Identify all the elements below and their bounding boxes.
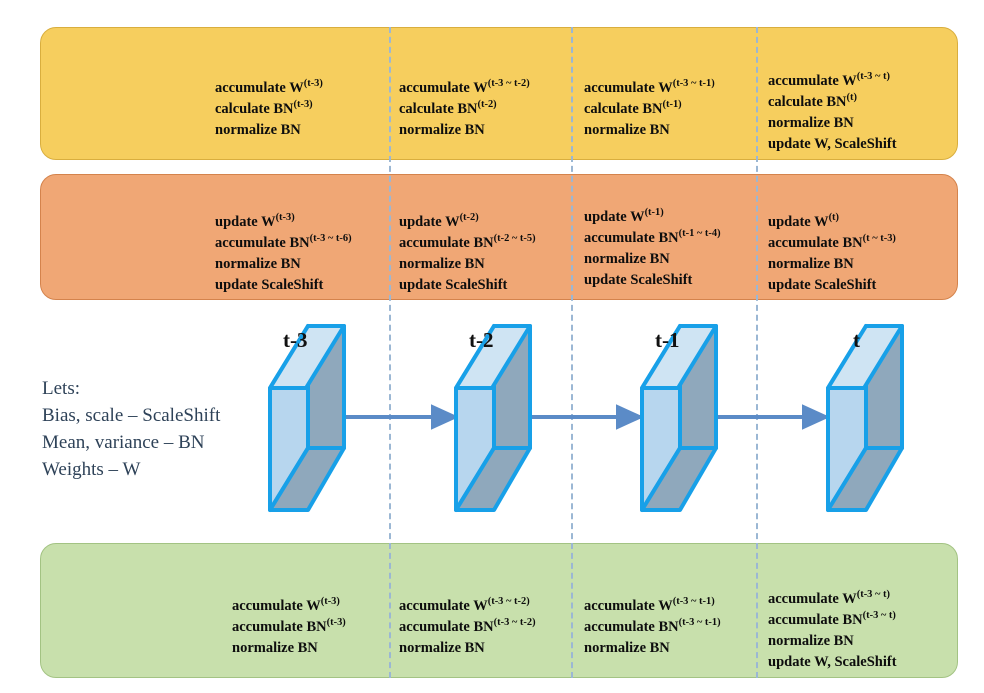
cbn-column-2: update W(t-2)accumulate BN(t-2 ~ t-5)nor… bbox=[399, 212, 536, 296]
step-line: normalize BN bbox=[399, 120, 530, 141]
bn-column-3: accumulate W(t-3 ~ t-1)calculate BN(t-1)… bbox=[584, 78, 715, 141]
step-line: update ScaleShift bbox=[215, 275, 352, 296]
step-line: update ScaleShift bbox=[399, 275, 536, 296]
step-line: normalize BN bbox=[232, 638, 346, 659]
step-line: calculate BN(t-3) bbox=[215, 99, 323, 120]
step-line: normalize BN bbox=[215, 254, 352, 275]
cube-label-t-2: t-2 bbox=[469, 328, 494, 353]
step-line: update W(t) bbox=[768, 212, 896, 233]
step-line: accumulate W(t-3 ~ t-2) bbox=[399, 78, 530, 99]
step-line: update W, ScaleShift bbox=[768, 134, 897, 155]
step-line: normalize BN bbox=[768, 631, 897, 652]
step-line: update W(t-3) bbox=[215, 212, 352, 233]
step-line: normalize BN bbox=[399, 638, 536, 659]
cmbn-column-2: accumulate W(t-3 ~ t-2)accumulate BN(t-3… bbox=[399, 596, 536, 659]
step-line: accumulate BN(t ~ t-3) bbox=[768, 233, 896, 254]
step-line: calculate BN(t-2) bbox=[399, 99, 530, 120]
step-line: normalize BN bbox=[584, 120, 715, 141]
step-line: update W(t-2) bbox=[399, 212, 536, 233]
step-line: accumulate BN(t-3 ~ t-2) bbox=[399, 617, 536, 638]
step-line: normalize BN bbox=[399, 254, 536, 275]
timeline-svg bbox=[0, 320, 984, 540]
diagram-canvas: BN– assume a batch contains four mini-ba… bbox=[0, 0, 984, 693]
step-line: normalize BN bbox=[584, 249, 721, 270]
step-line: calculate BN(t-1) bbox=[584, 99, 715, 120]
step-line: normalize BN bbox=[768, 113, 897, 134]
cmbn-column-4: accumulate W(t-3 ~ t)accumulate BN(t-3 ~… bbox=[768, 589, 897, 673]
cmbn-column-1: accumulate W(t-3)accumulate BN(t-3)norma… bbox=[232, 596, 346, 659]
step-line: normalize BN bbox=[584, 638, 721, 659]
cube-t bbox=[828, 326, 902, 510]
cube-t-2 bbox=[456, 326, 530, 510]
step-line: update ScaleShift bbox=[768, 275, 896, 296]
cube-label-t-1: t-1 bbox=[655, 328, 680, 353]
step-line: accumulate W(t-3) bbox=[215, 78, 323, 99]
step-line: normalize BN bbox=[768, 254, 896, 275]
step-line: accumulate BN(t-3) bbox=[232, 617, 346, 638]
cube-t-1 bbox=[642, 326, 716, 510]
bn-column-4: accumulate W(t-3 ~ t)calculate BN(t)norm… bbox=[768, 71, 897, 155]
bn-column-2: accumulate W(t-3 ~ t-2)calculate BN(t-2)… bbox=[399, 78, 530, 141]
cbn-column-3: update W(t-1)accumulate BN(t-1 ~ t-4)nor… bbox=[584, 207, 721, 291]
cube-t-3 bbox=[270, 326, 344, 510]
cube-label-t-3: t-3 bbox=[283, 328, 308, 353]
timeline-stage: t-3 t-2 t-1 t bbox=[0, 320, 984, 540]
step-line: normalize BN bbox=[215, 120, 323, 141]
step-line: accumulate BN(t-1 ~ t-4) bbox=[584, 228, 721, 249]
step-line: accumulate BN(t-3 ~ t-1) bbox=[584, 617, 721, 638]
step-line: accumulate BN(t-2 ~ t-5) bbox=[399, 233, 536, 254]
step-line: accumulate W(t-3 ~ t-1) bbox=[584, 78, 715, 99]
step-line: update W, ScaleShift bbox=[768, 652, 897, 673]
step-line: accumulate W(t-3) bbox=[232, 596, 346, 617]
step-line: accumulate BN(t-3 ~ t-6) bbox=[215, 233, 352, 254]
cbn-column-4: update W(t)accumulate BN(t ~ t-3)normali… bbox=[768, 212, 896, 296]
step-line: calculate BN(t) bbox=[768, 92, 897, 113]
step-line: accumulate W(t-3 ~ t-1) bbox=[584, 596, 721, 617]
step-line: accumulate W(t-3 ~ t) bbox=[768, 71, 897, 92]
step-line: update ScaleShift bbox=[584, 270, 721, 291]
cube-label-t: t bbox=[853, 328, 860, 353]
step-line: accumulate W(t-3 ~ t) bbox=[768, 589, 897, 610]
step-line: accumulate W(t-3 ~ t-2) bbox=[399, 596, 536, 617]
cbn-column-1: update W(t-3)accumulate BN(t-3 ~ t-6)nor… bbox=[215, 212, 352, 296]
step-line: accumulate BN(t-3 ~ t) bbox=[768, 610, 897, 631]
bn-column-1: accumulate W(t-3)calculate BN(t-3)normal… bbox=[215, 78, 323, 141]
step-line: update W(t-1) bbox=[584, 207, 721, 228]
cmbn-column-3: accumulate W(t-3 ~ t-1)accumulate BN(t-3… bbox=[584, 596, 721, 659]
